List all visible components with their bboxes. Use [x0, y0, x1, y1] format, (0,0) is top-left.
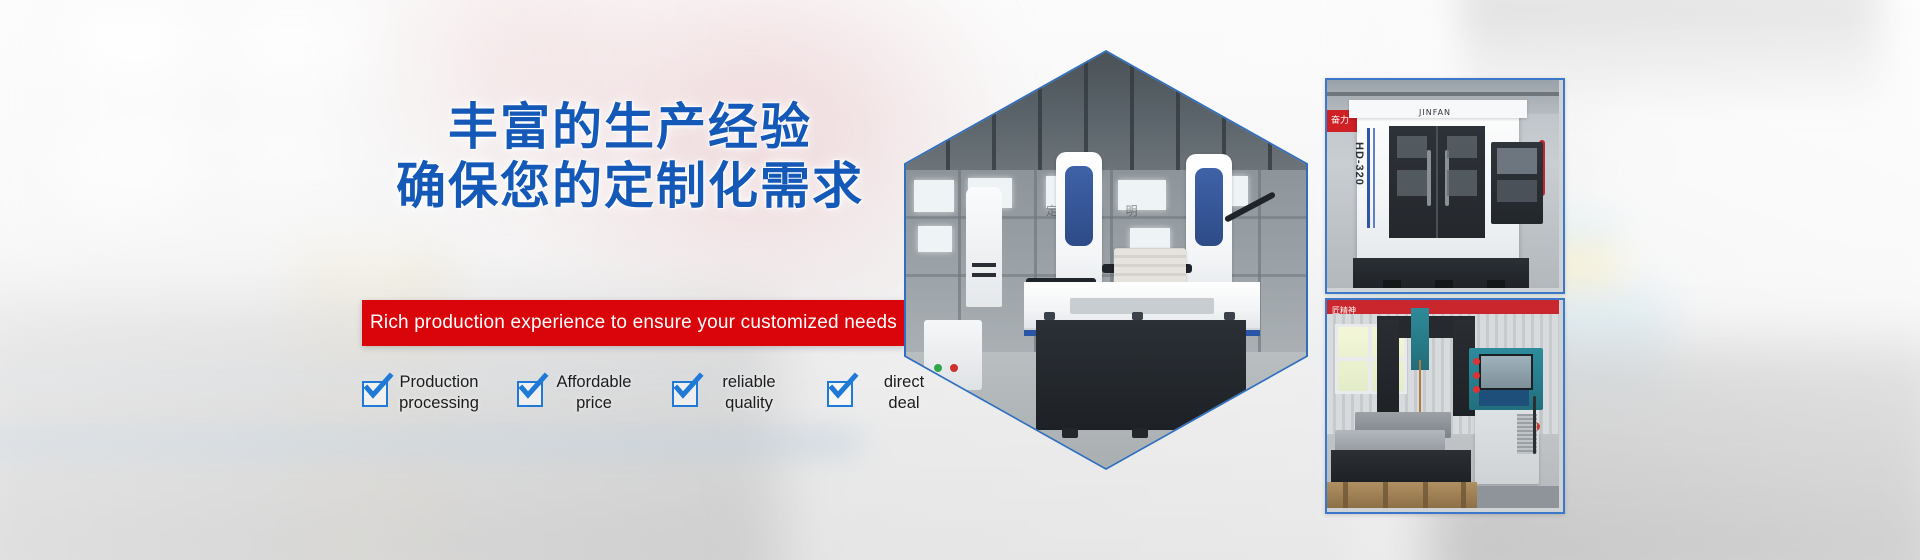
- workshop-roof: [906, 52, 1306, 172]
- edm-keypad: [1479, 390, 1529, 406]
- thumbnail-machining-center[interactable]: 奋力 JINFAN HD-320: [1325, 78, 1565, 294]
- machine-left-column: [1056, 152, 1102, 297]
- feature-item-reliable-quality[interactable]: reliable quality: [672, 372, 791, 413]
- feature-label: reliable quality: [707, 372, 791, 413]
- hero-hexagon-image: 定 一 明: [904, 50, 1308, 470]
- edm-wood-pallet: [1327, 482, 1477, 508]
- feature-label: Production processing: [397, 372, 481, 413]
- machine-control-box: [924, 320, 982, 390]
- headline: 丰富的生产经验 确保您的定制化需求: [330, 98, 930, 215]
- subtitle-text: Rich production experience to ensure you…: [370, 312, 897, 334]
- machine-brand-label: JINFAN: [1419, 108, 1451, 117]
- feature-label-line-1: Affordable: [557, 373, 632, 391]
- feature-label-line-1: Production: [400, 373, 479, 391]
- edm-button-red: [1473, 372, 1480, 379]
- edm-left-column: [1377, 320, 1399, 416]
- machine-model-label: HD-320: [1353, 142, 1365, 186]
- hero-banner: 丰富的生产经验 确保您的定制化需求 Rich production experi…: [0, 0, 1920, 560]
- edm-button-red: [1473, 358, 1480, 365]
- machine-blue-stripe-secondary: [1373, 128, 1375, 228]
- machine-blue-stripe: [1367, 128, 1370, 228]
- checkbox-checked-icon: [827, 381, 853, 407]
- edm-cable: [1533, 396, 1536, 454]
- headline-line-1: 丰富的生产经验: [330, 98, 930, 157]
- feature-label-line-2: processing: [397, 393, 481, 414]
- feature-label-line-1: reliable: [722, 373, 775, 391]
- machine-base: [1036, 320, 1246, 430]
- feature-label-line-2: price: [552, 393, 636, 414]
- edm-display-screen: [1479, 354, 1533, 390]
- feature-item-affordable-price[interactable]: Affordable price: [517, 372, 636, 413]
- hexagon-photo-content: 定 一 明: [906, 52, 1306, 468]
- checkbox-checked-icon: [362, 381, 388, 407]
- machine-far-column: [966, 187, 1002, 307]
- edm-machine-bed: [1331, 450, 1471, 486]
- subtitle-ribbon: Rich production experience to ensure you…: [362, 300, 905, 346]
- machine-doors: [1389, 126, 1485, 238]
- edm-button-red: [1473, 386, 1480, 393]
- feature-list: Production processing Affordable price: [362, 372, 946, 413]
- feature-label-line-2: quality: [707, 393, 791, 414]
- checkbox-checked-icon: [517, 381, 543, 407]
- thumb-wall-sign-text: 奋力: [1327, 116, 1349, 126]
- machine-control-panel: [1491, 142, 1543, 224]
- feature-item-production-processing[interactable]: Production processing: [362, 372, 481, 413]
- machine-plinth: [1353, 258, 1529, 288]
- machine-right-column: [1186, 154, 1232, 294]
- checkbox-checked-icon: [672, 381, 698, 407]
- feature-label: Affordable price: [552, 372, 636, 413]
- headline-line-2: 确保您的定制化需求: [330, 157, 930, 216]
- thumbnail-wire-edm-machine[interactable]: 匠精神: [1325, 298, 1565, 514]
